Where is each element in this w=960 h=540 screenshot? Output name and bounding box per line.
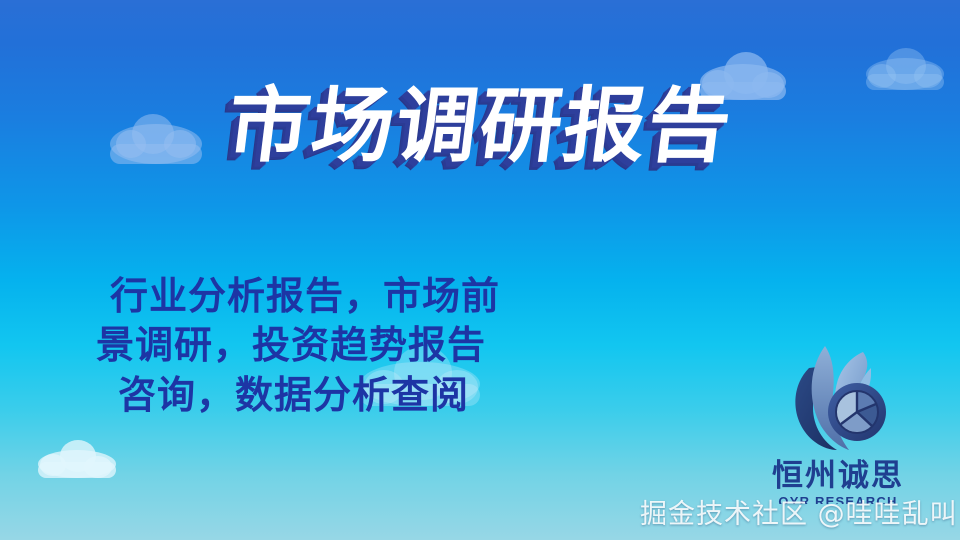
logo-wordmark: 恒州诚思	[748, 460, 928, 493]
poster-canvas: 市场调研报告 行业分析报告，市场前 景调研，投资趋势报告 咨询，数据分析查阅	[0, 0, 960, 540]
subtitle-line-3: 咨询，数据分析查阅	[60, 371, 670, 420]
cloud-icon	[38, 450, 116, 478]
watermark-text: 掘金技术社区 @哇哇乱叫	[640, 492, 958, 531]
leaf-pie-chart-icon	[775, 338, 901, 458]
subtitle-line-1: 行业分析报告，市场前	[60, 272, 670, 321]
subtitle-text-block: 行业分析报告，市场前 景调研，投资趋势报告 咨询，数据分析查阅	[60, 272, 670, 420]
page-title: 市场调研报告	[0, 86, 960, 168]
subtitle-line-2: 景调研，投资趋势报告	[60, 321, 670, 370]
